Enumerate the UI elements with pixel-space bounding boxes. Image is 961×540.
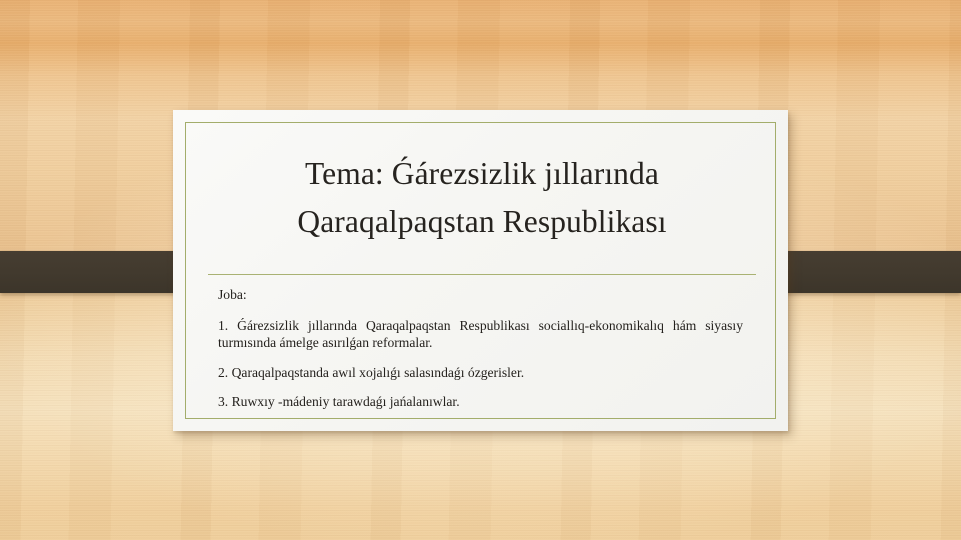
- decorative-bar-left: [0, 251, 194, 293]
- body-item-1: 1. Ǵárezsizlik jıllarında Qaraqalpaqstan…: [218, 317, 743, 352]
- body-item-2: 2. Qaraqalpaqstanda awıl xojalıǵı salası…: [218, 364, 743, 382]
- slide-body: Joba: 1. Ǵárezsizlik jıllarında Qaraqalp…: [218, 286, 743, 411]
- body-heading: Joba:: [218, 286, 743, 304]
- body-item-3: 3. Ruwxıy -mádeniy tarawdaǵı jańalanıwla…: [218, 393, 743, 411]
- title-line-1: Tema: Ǵárezsizlik jıllarında: [208, 150, 756, 198]
- title-line-2: Qaraqalpaqstan Respublikası: [208, 198, 756, 246]
- slide-title: Tema: Ǵárezsizlik jıllarında Qaraqalpaqs…: [208, 150, 756, 246]
- title-divider: [208, 274, 756, 275]
- decorative-bar-right: [766, 251, 961, 293]
